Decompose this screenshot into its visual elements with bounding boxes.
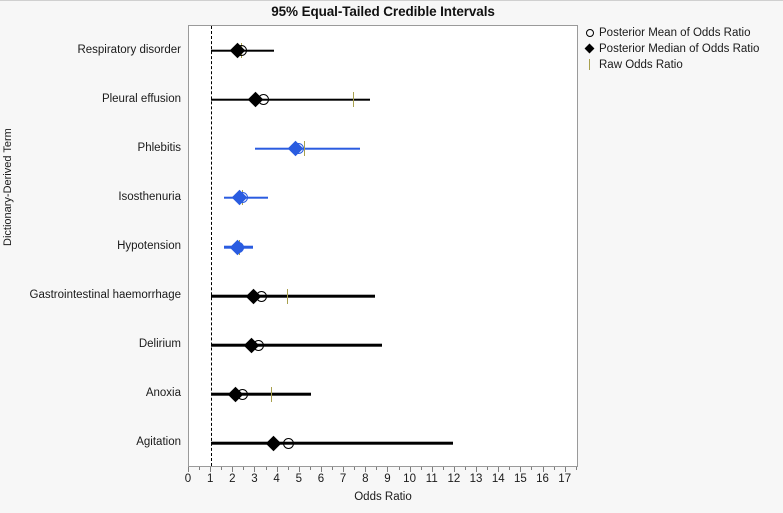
x-axis-minor-tick	[199, 467, 200, 470]
posterior-mean-marker	[237, 389, 248, 400]
interval-row	[189, 332, 577, 358]
y-axis-tick-label: Isosthenuria	[118, 191, 181, 203]
x-axis-tick	[520, 467, 521, 472]
y-axis-tick-label: Delirium	[139, 338, 181, 350]
x-axis-minor-tick	[399, 467, 400, 470]
raw-odds-ratio-tick	[271, 387, 272, 402]
raw-odds-ratio-tick	[287, 289, 288, 304]
x-axis-minor-tick	[243, 467, 244, 470]
interval-row	[189, 381, 577, 407]
y-axis-category-labels: Respiratory disorderPleural effusionPhle…	[0, 25, 183, 467]
x-axis-tick	[188, 467, 189, 472]
x-axis-tick	[387, 467, 388, 472]
x-axis-tick	[543, 467, 544, 472]
x-axis-tick	[410, 467, 411, 472]
x-axis-tick-label: 10	[403, 473, 416, 485]
interval-row	[189, 430, 577, 456]
x-axis-tick-label: 4	[273, 473, 279, 485]
legend-item: Raw Odds Ratio	[583, 57, 779, 72]
x-axis: Odds Ratio 01234567891011121314151617	[188, 467, 578, 512]
x-axis-tick	[299, 467, 300, 472]
x-axis-tick	[565, 467, 566, 472]
x-axis-minor-tick	[421, 467, 422, 470]
x-axis-tick	[454, 467, 455, 472]
y-axis-tick-label: Phlebitis	[138, 142, 181, 154]
x-axis-minor-tick	[310, 467, 311, 470]
open-circle-icon	[583, 25, 599, 40]
legend-item-label: Posterior Mean of Odds Ratio	[599, 27, 751, 39]
x-axis-tick	[254, 467, 255, 472]
plot-inner	[189, 26, 577, 466]
page-title: 95% Equal-Tailed Credible Intervals	[188, 4, 578, 19]
legend-item: Posterior Mean of Odds Ratio	[583, 25, 779, 40]
credible-interval-bar	[211, 442, 453, 445]
x-axis-tick	[210, 467, 211, 472]
credible-interval-bar	[211, 295, 375, 298]
x-axis-tick-label: 5	[296, 473, 302, 485]
raw-odds-ratio-tick	[304, 141, 305, 156]
interval-row	[189, 234, 577, 260]
posterior-mean-marker	[283, 438, 294, 449]
x-axis-tick-label: 0	[185, 473, 191, 485]
y-axis-tick-label: Hypotension	[117, 240, 181, 252]
raw-odds-ratio-tick	[353, 92, 354, 107]
x-axis-tick-label: 17	[558, 473, 571, 485]
x-axis-tick	[232, 467, 233, 472]
x-axis-minor-tick	[443, 467, 444, 470]
x-axis-minor-tick	[509, 467, 510, 470]
y-axis-tick-label: Gastrointestinal haemorrhage	[30, 289, 182, 301]
credible-interval-bar	[211, 393, 311, 396]
x-axis-minor-tick	[554, 467, 555, 470]
x-axis-minor-tick	[354, 467, 355, 470]
x-axis-minor-tick	[221, 467, 222, 470]
interval-row	[189, 38, 577, 64]
x-axis-tick-label: 16	[536, 473, 549, 485]
x-axis-tick	[277, 467, 278, 472]
x-axis-tick-label: 13	[470, 473, 483, 485]
posterior-mean-marker	[233, 242, 244, 253]
x-axis-minor-tick	[332, 467, 333, 470]
x-axis-minor-tick	[576, 467, 577, 470]
legend: Posterior Mean of Odds RatioPosterior Me…	[583, 25, 779, 73]
x-axis-tick-label: 9	[384, 473, 390, 485]
x-axis-minor-tick	[266, 467, 267, 470]
y-axis-tick-label: Agitation	[136, 436, 181, 448]
interval-row	[189, 185, 577, 211]
plot-area	[188, 25, 578, 467]
credible-interval-bar	[211, 344, 382, 347]
x-axis-tick-label: 12	[448, 473, 461, 485]
interval-row	[189, 87, 577, 113]
vertical-tick-icon	[583, 57, 599, 72]
x-axis-minor-tick	[465, 467, 466, 470]
x-axis-tick	[365, 467, 366, 472]
x-axis-minor-tick	[288, 467, 289, 470]
posterior-median-marker	[265, 436, 281, 452]
posterior-mean-marker	[236, 45, 247, 56]
filled-diamond-icon	[583, 41, 599, 56]
y-axis-tick-label: Respiratory disorder	[77, 44, 181, 56]
legend-item-label: Posterior Median of Odds Ratio	[599, 43, 759, 55]
interval-row	[189, 136, 577, 162]
x-axis-tick	[476, 467, 477, 472]
posterior-mean-marker	[258, 94, 269, 105]
x-axis-minor-tick	[487, 467, 488, 470]
legend-item-label: Raw Odds Ratio	[599, 59, 683, 71]
y-axis-tick-label: Pleural effusion	[102, 93, 181, 105]
x-axis-tick	[498, 467, 499, 472]
credible-interval-bar	[255, 147, 359, 150]
legend-item: Posterior Median of Odds Ratio	[583, 41, 779, 56]
x-axis-minor-tick	[531, 467, 532, 470]
posterior-mean-marker	[293, 143, 304, 154]
x-axis-title: Odds Ratio	[188, 491, 578, 503]
interval-row	[189, 283, 577, 309]
x-axis-tick	[432, 467, 433, 472]
x-axis-minor-tick	[376, 467, 377, 470]
x-axis-tick-label: 11	[426, 473, 438, 485]
posterior-mean-marker	[256, 291, 267, 302]
chart-canvas: 95% Equal-Tailed Credible Intervals Dict…	[0, 0, 783, 513]
x-axis-tick-label: 3	[251, 473, 257, 485]
x-axis-tick-label: 14	[492, 473, 505, 485]
x-axis-tick-label: 2	[229, 473, 235, 485]
x-axis-tick-label: 15	[514, 473, 527, 485]
posterior-mean-marker	[253, 340, 264, 351]
x-axis-tick	[343, 467, 344, 472]
x-axis-tick-label: 8	[362, 473, 368, 485]
x-axis-tick-label: 1	[207, 473, 213, 485]
x-axis-tick-label: 7	[340, 473, 346, 485]
x-axis-tick	[321, 467, 322, 472]
posterior-mean-marker	[237, 192, 248, 203]
credible-interval-bar	[211, 98, 369, 101]
y-axis-tick-label: Anoxia	[146, 387, 181, 399]
x-axis-tick-label: 6	[318, 473, 324, 485]
